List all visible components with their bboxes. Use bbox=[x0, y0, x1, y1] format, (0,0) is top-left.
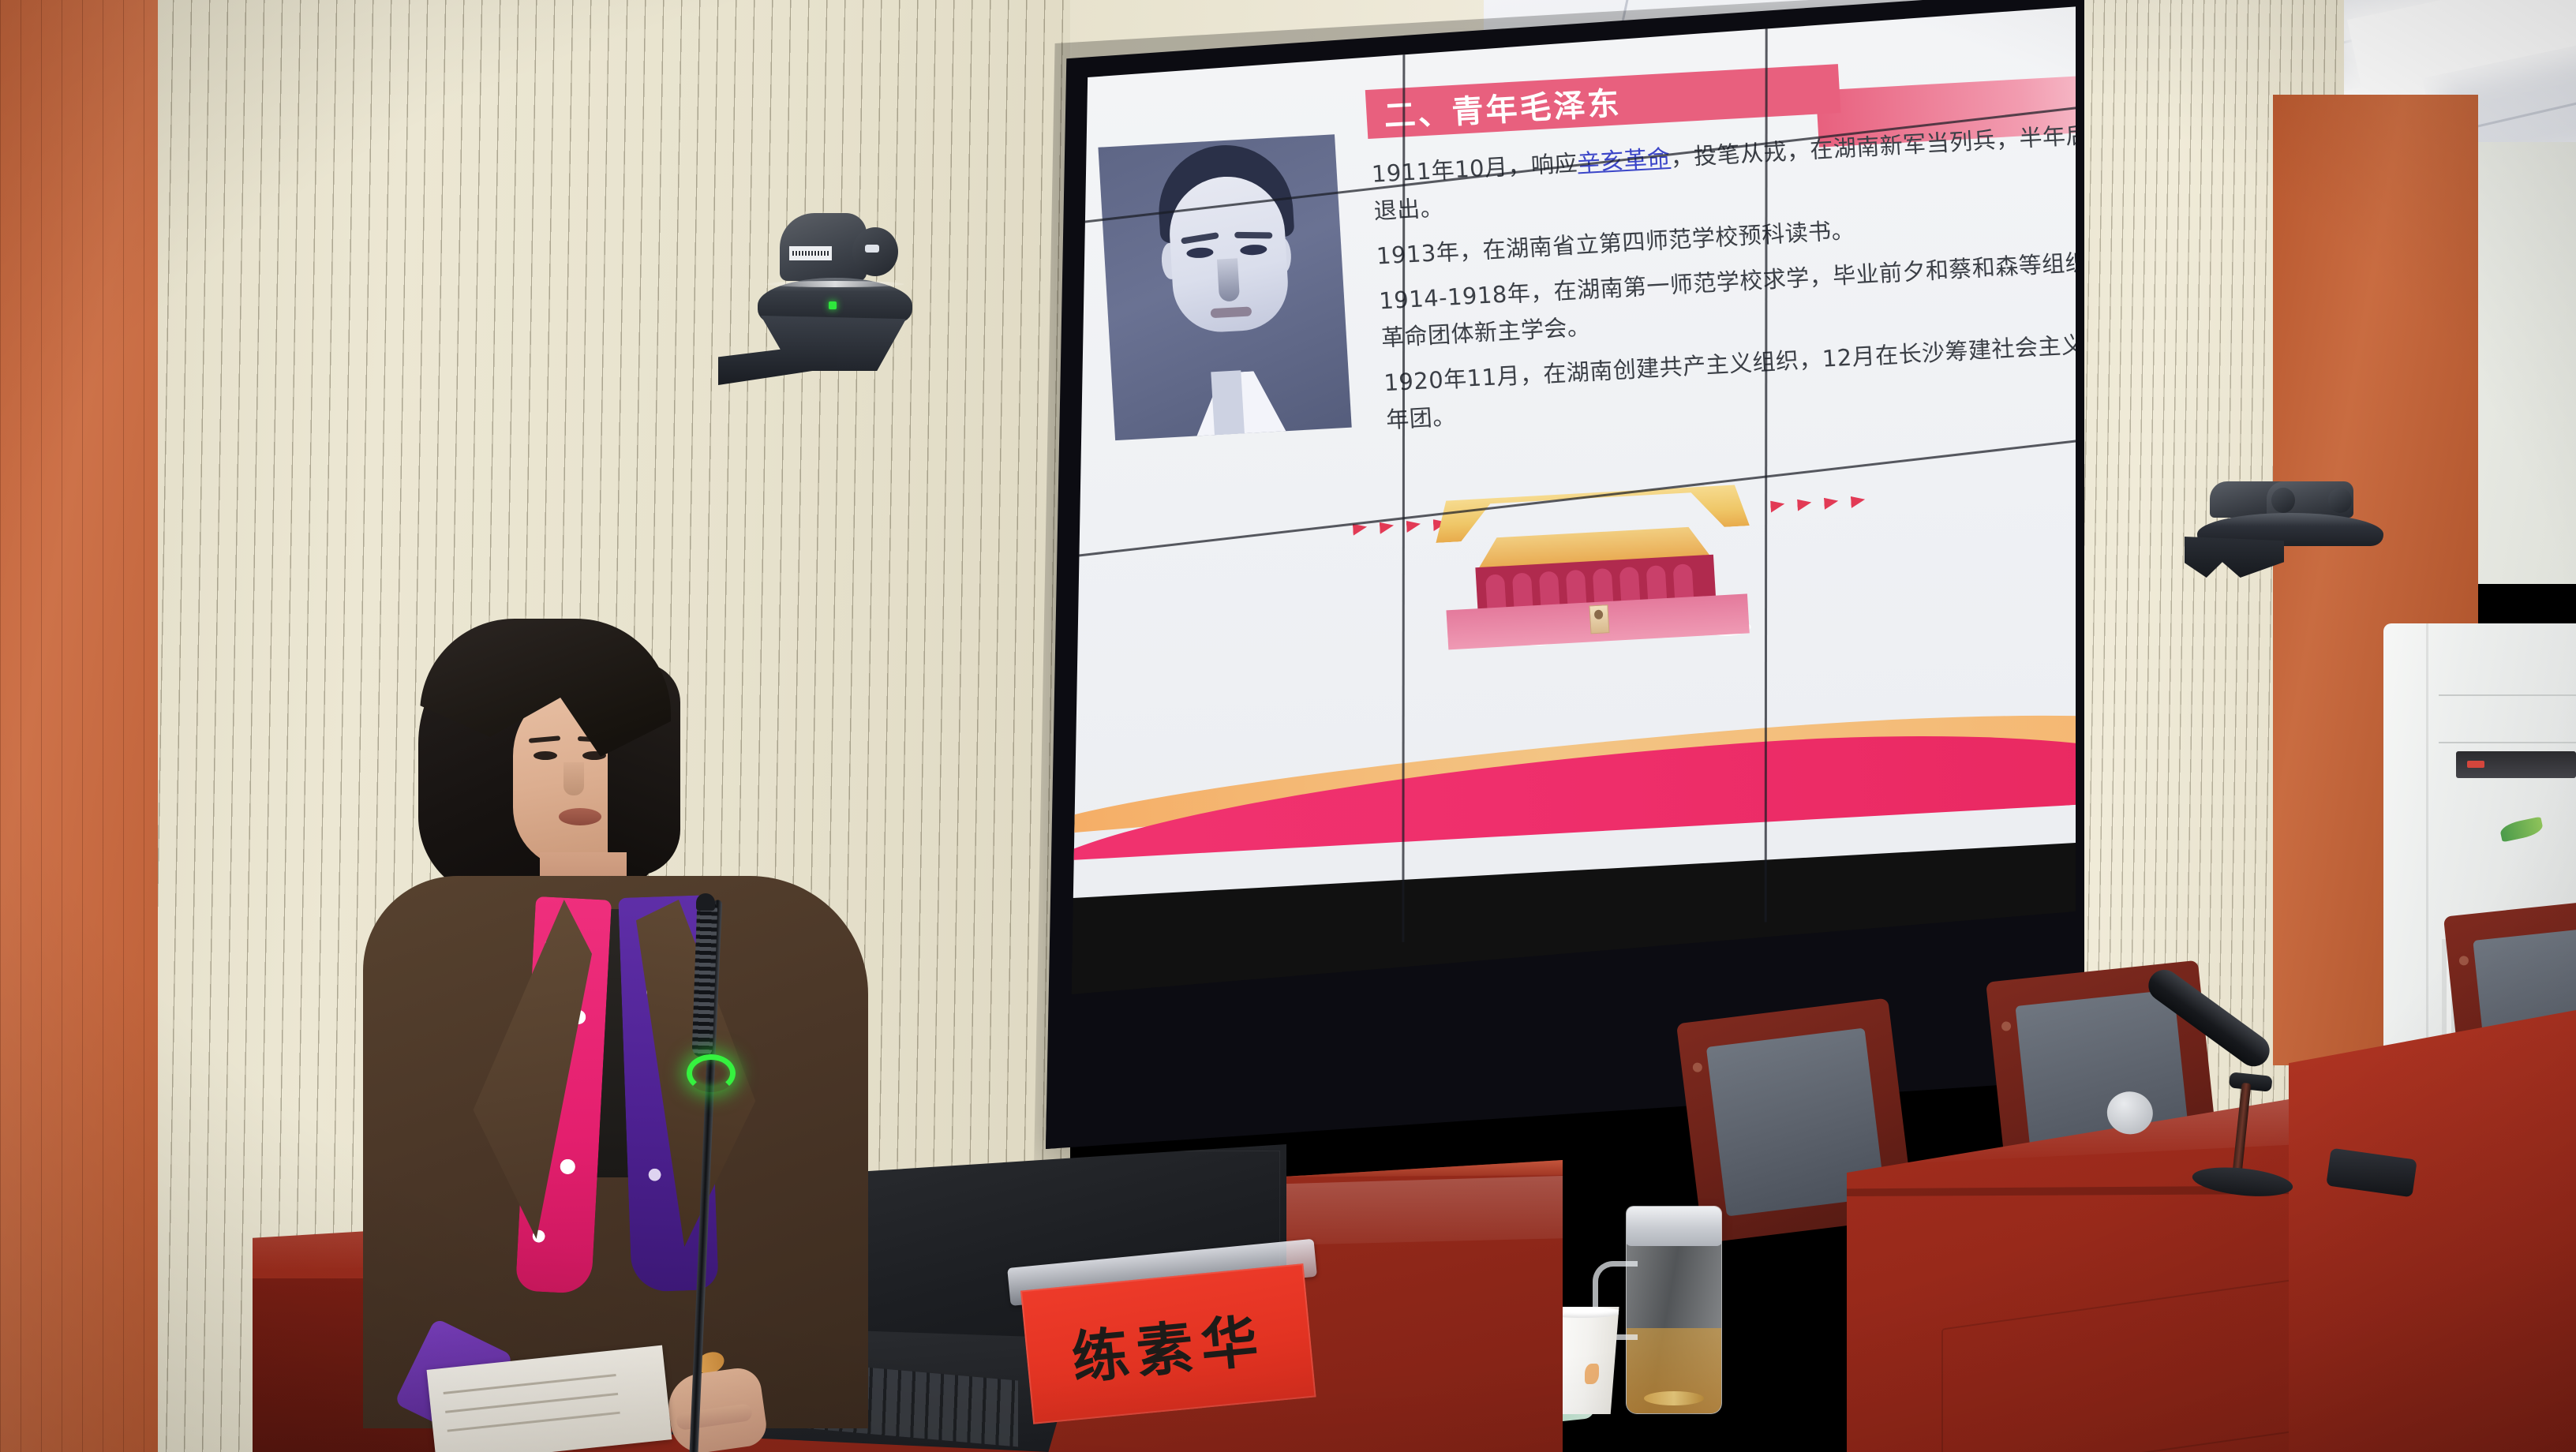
flag-group-right bbox=[1770, 496, 1866, 528]
mao-portrait-icon bbox=[1589, 604, 1609, 634]
nameplate[interactable]: 练素华 bbox=[1019, 1249, 1317, 1434]
slide-body: 1911年10月，响应辛亥革命，投笔从戎，在湖南新军当列兵，半年后退出。 191… bbox=[1371, 116, 2076, 447]
presentation-slide: 二、青年毛泽东 1911年10月，响应辛亥革命，投笔从戎，在湖南新军当列兵，半年… bbox=[1065, 0, 2076, 898]
camera-lens-icon bbox=[852, 227, 898, 276]
wall-panel-orange-left bbox=[0, 0, 158, 1452]
dual-ptz-camera-right bbox=[2210, 481, 2399, 592]
camera-lens-icon bbox=[2328, 488, 2352, 513]
leaf-logo-icon bbox=[2499, 817, 2544, 843]
cable-bundle bbox=[2099, 1105, 2541, 1278]
tiananmen-gate-illustration bbox=[1421, 481, 1769, 657]
camera-status-led bbox=[829, 301, 837, 309]
camera-lens-icon bbox=[2271, 488, 2295, 513]
screenshot-root: 二、青年毛泽东 1911年10月，响应辛亥革命，投笔从戎，在湖南新军当列兵，半年… bbox=[0, 0, 2576, 1452]
microphone-active-led-ring bbox=[687, 1054, 736, 1092]
slide-ribbon-decoration bbox=[1065, 696, 2076, 863]
portrait-photo-mao bbox=[1098, 134, 1351, 440]
glass-tea-tumbler[interactable] bbox=[1626, 1206, 1722, 1414]
slide-title-bar: 二、青年毛泽东 bbox=[1365, 64, 1841, 139]
ptz-camera-left bbox=[742, 213, 947, 402]
gooseneck-microphone[interactable] bbox=[679, 900, 734, 1452]
camera-wall-bracket bbox=[2185, 537, 2284, 578]
microphone-capsule-icon bbox=[696, 893, 715, 911]
nameplate-card: 练素华 bbox=[1020, 1263, 1316, 1424]
air-conditioner-display bbox=[2456, 751, 2576, 778]
nameplate-text: 练素华 bbox=[1068, 1293, 1269, 1394]
